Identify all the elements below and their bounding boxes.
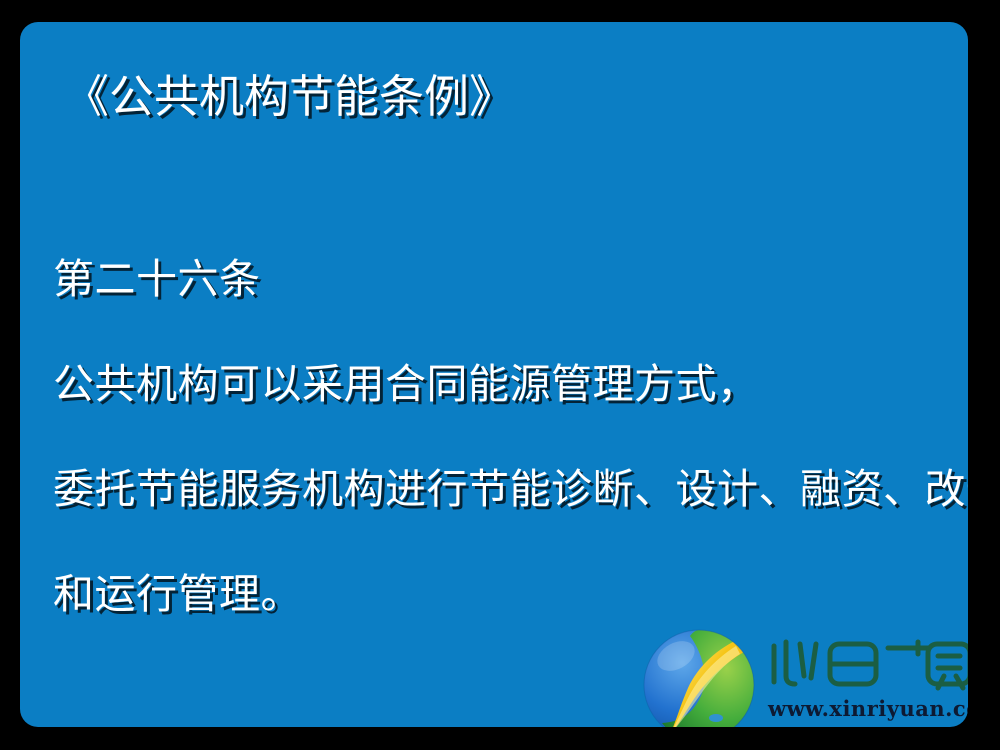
body-line-2: 委托节能服务机构进行节能诊断、设计、融资、改造: [53, 437, 968, 542]
sphere-leaf-emblem-icon: [640, 626, 758, 727]
slide-title: 《公共机构节能条例》: [64, 74, 514, 119]
logo-website-url[interactable]: www.xinriyuan.com: [768, 696, 968, 721]
body-line-1: 公共机构可以采用合同能源管理方式，: [53, 332, 968, 437]
body-line-article-number: 第二十六条: [53, 227, 968, 332]
company-logo: www.xinriyuan.com: [640, 626, 968, 727]
slide-body-text: 第二十六条 公共机构可以采用合同能源管理方式， 委托节能服务机构进行节能诊断、设…: [53, 227, 968, 647]
slide-content-panel: 《公共机构节能条例》 第二十六条 公共机构可以采用合同能源管理方式， 委托节能服…: [20, 22, 968, 727]
logo-wordmark-characters: [768, 632, 968, 694]
slide-root: 《公共机构节能条例》 第二十六条 公共机构可以采用合同能源管理方式， 委托节能服…: [0, 0, 1000, 750]
logo-wordmark: www.xinriyuan.com: [768, 632, 968, 721]
